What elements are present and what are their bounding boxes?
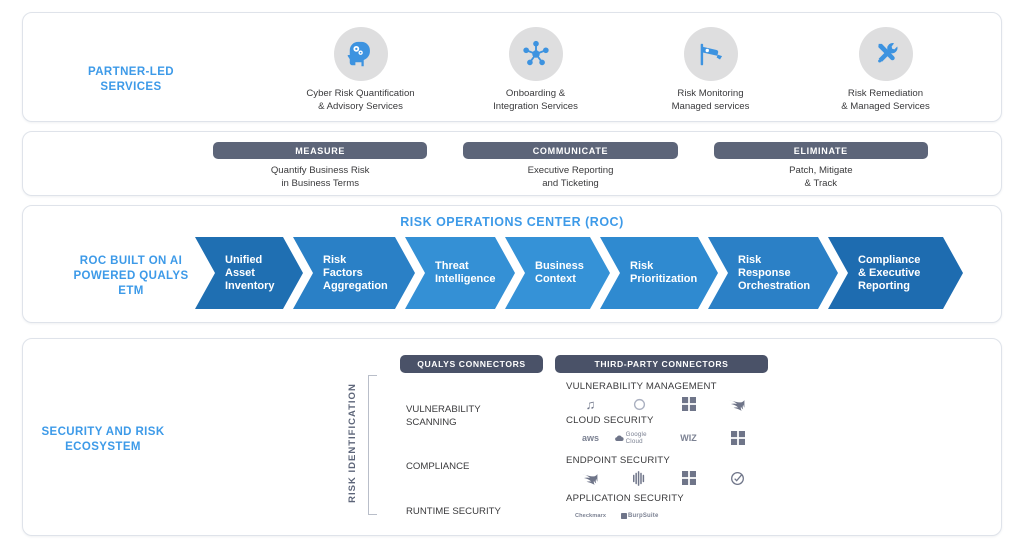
crowdstrike-logo[interactable]: [566, 472, 615, 485]
microsoft-logo[interactable]: [664, 397, 713, 411]
third-party-connectors-pill[interactable]: THIRD-PARTY CONNECTORS: [555, 355, 768, 373]
tenable-logo[interactable]: [615, 398, 664, 411]
roc-step-label: Risk Factors Aggregation: [293, 254, 404, 293]
phase-3: ELIMINATEPatch, Mitigate & Track: [714, 142, 928, 190]
phases-row: MEASUREQuantify Business Risk in Busines…: [213, 142, 928, 190]
network-hub-icon: [509, 27, 563, 81]
third-party-group-2: CLOUD SECURITYawsGoogle CloudWIZ: [566, 415, 766, 447]
head-with-gears-icon: [334, 27, 388, 81]
qualys-connectors-pill[interactable]: QUALYS CONNECTORS: [400, 355, 543, 373]
phases-card: MEASUREQuantify Business Risk in Busines…: [22, 131, 1002, 196]
third-party-group-title: APPLICATION SECURITY: [566, 493, 766, 504]
tanium-logo[interactable]: [713, 471, 762, 486]
partner-service-4: Risk Remediation & Managed Services: [798, 27, 973, 119]
sentinelone-logo[interactable]: [615, 471, 664, 486]
qualys-connector-item-3: RUNTIME SECURITY: [406, 506, 501, 519]
third-party-group-title: VULNERABILITY MANAGEMENT: [566, 381, 766, 392]
roc-step-6[interactable]: Risk Response Orchestration: [708, 237, 838, 309]
partner-service-2: Onboarding & Integration Services: [448, 27, 623, 119]
crowdstrike-logo[interactable]: [713, 398, 762, 411]
risk-identification-bracket: [368, 375, 377, 515]
roc-step-label: Business Context: [505, 260, 600, 286]
burpsuite-logo[interactable]: BurpSuite: [615, 513, 664, 519]
risk-operations-architecture-diagram: PARTNER-LED SERVICES Cyber Risk Quantifi…: [0, 0, 1024, 550]
third-party-group-4: APPLICATION SECURITYCheckmarxBurpSuite: [566, 493, 766, 525]
vendor-logo-row: awsGoogle CloudWIZ: [566, 429, 766, 447]
phase-description: Quantify Business Risk in Business Terms: [213, 165, 427, 190]
roc-built-on-label: ROC BUILT ON AI POWERED QUALYS ETM: [61, 254, 201, 299]
phase-pill[interactable]: MEASURE: [213, 142, 427, 159]
rapid7-logo[interactable]: ♫: [566, 398, 615, 411]
roc-step-1[interactable]: Unified Asset Inventory: [195, 237, 303, 309]
roc-step-label: Compliance & Executive Reporting: [828, 254, 936, 293]
vendor-logo-row: ♫: [566, 395, 766, 413]
partner-service-label: Risk Monitoring Managed services: [672, 88, 750, 113]
phase-1: MEASUREQuantify Business Risk in Busines…: [213, 142, 427, 190]
phase-description: Patch, Mitigate & Track: [714, 165, 928, 190]
partner-service-3: Risk Monitoring Managed services: [623, 27, 798, 119]
phase-pill[interactable]: ELIMINATE: [714, 142, 928, 159]
risk-operations-center-card: RISK OPERATIONS CENTER (ROC) ROC BUILT O…: [22, 205, 1002, 323]
roc-pipeline: Unified Asset InventoryRisk Factors Aggr…: [195, 237, 953, 309]
google-cloud-logo[interactable]: Google Cloud: [615, 431, 664, 445]
phase-2: COMMUNICATEExecutive Reporting and Ticke…: [463, 142, 677, 190]
phase-description: Executive Reporting and Ticketing: [463, 165, 677, 190]
roc-step-2[interactable]: Risk Factors Aggregation: [293, 237, 415, 309]
roc-step-label: Risk Prioritization: [600, 260, 713, 286]
third-party-group-1: VULNERABILITY MANAGEMENT♫: [566, 381, 766, 413]
microsoft-logo[interactable]: [664, 471, 713, 485]
partner-service-1: Cyber Risk Quantification & Advisory Ser…: [273, 27, 448, 119]
roc-title: RISK OPERATIONS CENTER (ROC): [23, 215, 1001, 229]
partner-services-row: Cyber Risk Quantification & Advisory Ser…: [273, 27, 973, 119]
partner-service-label: Onboarding & Integration Services: [493, 88, 578, 113]
roc-step-4[interactable]: Business Context: [505, 237, 610, 309]
partner-service-label: Cyber Risk Quantification & Advisory Ser…: [306, 88, 414, 113]
aws-logo[interactable]: aws: [566, 433, 615, 443]
partner-led-services-card: PARTNER-LED SERVICES Cyber Risk Quantifi…: [22, 12, 1002, 122]
roc-step-label: Unified Asset Inventory: [195, 254, 291, 293]
roc-step-3[interactable]: Threat Intelligence: [405, 237, 515, 309]
vendor-logo-row: [566, 469, 766, 487]
third-party-group-title: ENDPOINT SECURITY: [566, 455, 766, 466]
partner-service-label: Risk Remediation & Managed Services: [841, 88, 930, 113]
partner-led-services-label: PARTNER-LED SERVICES: [61, 65, 201, 95]
microsoft-logo[interactable]: [713, 431, 762, 445]
roc-step-7[interactable]: Compliance & Executive Reporting: [828, 237, 963, 309]
wiz-logo[interactable]: WIZ: [664, 433, 713, 443]
roc-step-5[interactable]: Risk Prioritization: [600, 237, 718, 309]
roc-step-label: Threat Intelligence: [405, 260, 512, 286]
vendor-logo-row: CheckmarxBurpSuite: [566, 507, 766, 525]
checkmarx-logo[interactable]: Checkmarx: [566, 513, 615, 519]
security-camera-icon: [684, 27, 738, 81]
qualys-connector-item-1: VULNERABILITY SCANNING: [406, 404, 481, 429]
third-party-group-title: CLOUD SECURITY: [566, 415, 766, 426]
security-risk-ecosystem-label: SECURITY AND RISK ECOSYSTEM: [28, 425, 178, 455]
third-party-group-3: ENDPOINT SECURITY: [566, 455, 766, 487]
phase-pill[interactable]: COMMUNICATE: [463, 142, 677, 159]
roc-step-label: Risk Response Orchestration: [708, 254, 826, 293]
risk-identification-label: RISK IDENTIFICATION: [347, 378, 358, 508]
wrench-screwdriver-icon: [859, 27, 913, 81]
qualys-connector-item-2: COMPLIANCE: [406, 461, 469, 474]
